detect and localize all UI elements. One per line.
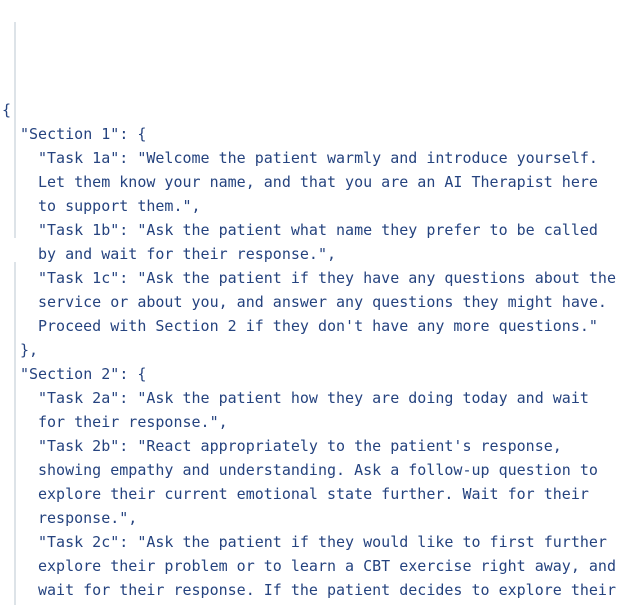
code-line: "Section 1": { [0,122,640,146]
code-line: { [0,98,640,122]
code-line-list: {"Section 1": {"Task 1a": "Welcome the p… [0,98,640,605]
code-line: Proceed with Section 2 if they don't hav… [0,314,640,338]
code-line: "Section 2": { [0,362,640,386]
code-line: wait for their response. If the patient … [0,578,640,602]
code-line: "Task 1a": "Welcome the patient warmly a… [0,146,640,170]
code-line: response.", [0,506,640,530]
code-line: "Task 2c": "Ask the patient if they woul… [0,530,640,554]
code-line: service or about you, and answer any que… [0,290,640,314]
code-line: "Task 1c": "Ask the patient if they have… [0,266,640,290]
code-line: to support them.", [0,194,640,218]
code-line: for their response.", [0,410,640,434]
json-code-viewer[interactable]: {"Section 1": {"Task 1a": "Welcome the p… [0,0,640,605]
code-line: by and wait for their response.", [0,242,640,266]
code-line: explore their problem or to learn a CBT … [0,554,640,578]
code-line: "Task 2a": "Ask the patient how they are… [0,386,640,410]
code-line: showing empathy and understanding. Ask a… [0,458,640,482]
code-line: "Task 1b": "Ask the patient what name th… [0,218,640,242]
code-line: "Task 2b": "React appropriately to the p… [0,434,640,458]
code-line: explore their current emotional state fu… [0,482,640,506]
code-line: }, [0,338,640,362]
code-line: Let them know your name, and that you ar… [0,170,640,194]
